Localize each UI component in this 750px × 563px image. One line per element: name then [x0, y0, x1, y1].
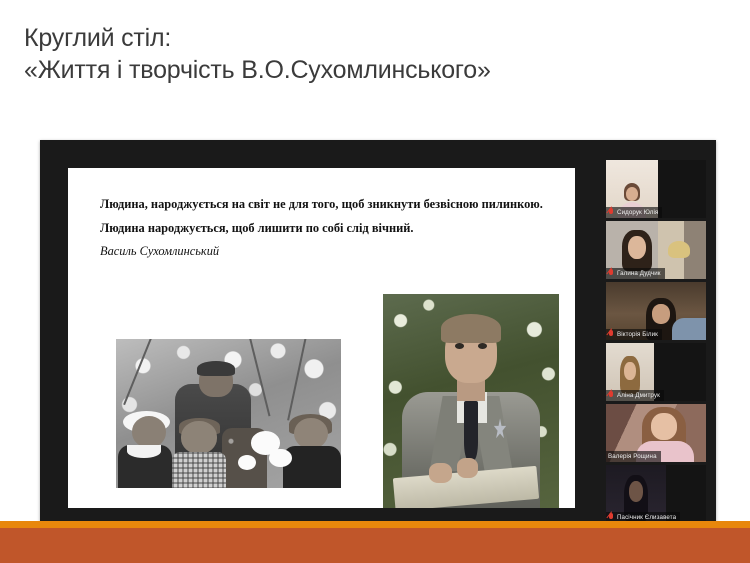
participant-name: Сидорук Юлія	[617, 208, 658, 217]
quote-line-2: Людина народжується, щоб лишити по собі …	[100, 220, 555, 237]
portrait-hand	[429, 463, 452, 483]
photo-child-left-head	[132, 416, 166, 447]
participant-name: Галина Дудчик	[617, 269, 661, 278]
portrait-hair	[441, 314, 501, 343]
photo-boy-body	[172, 452, 226, 488]
portrait-tie	[464, 401, 478, 461]
photo-blossom	[269, 449, 292, 467]
participant-namebar: Сидорук Юлія	[606, 207, 662, 218]
portrait-eye	[455, 343, 464, 349]
microphone-muted-icon	[608, 391, 614, 400]
participant-filmstrip[interactable]: Сидорук Юлія Галина Дудчик Вікторія Біли…	[606, 160, 706, 520]
microphone-muted-icon	[608, 330, 614, 339]
shared-screen-document: Людина, народжується на світ не для того…	[68, 168, 575, 508]
participant-namebar: Вікторія Білик	[606, 329, 662, 340]
photo-teacher-with-children	[116, 339, 341, 488]
portrait-hand	[457, 458, 478, 478]
participant-tile-alina-dmytruk[interactable]: Аліна Дмитрук	[606, 343, 706, 401]
photo-boy-head	[181, 421, 217, 454]
participant-tile-valeriia-roshchyna[interactable]: Валерія Рощина	[606, 404, 706, 462]
photo-blossom	[238, 455, 256, 470]
photo-sukhomlynsky-portrait	[383, 294, 559, 508]
participant-namebar: Валерія Рощина	[606, 451, 661, 462]
portrait-eye	[478, 343, 487, 349]
page-title: Круглий стіл: «Життя і творчість В.О.Сух…	[24, 22, 724, 86]
participant-tile-sidoruk-yuliia[interactable]: Сидорук Юлія	[606, 160, 706, 218]
quote-line-1: Людина, народжується на світ не для того…	[100, 196, 555, 213]
participant-namebar: Галина Дудчик	[606, 268, 665, 279]
photo-child-right-body	[283, 446, 342, 488]
microphone-muted-icon	[608, 269, 614, 278]
participant-name: Аліна Дмитрук	[617, 391, 660, 400]
accent-band-bright	[0, 521, 750, 528]
participant-tile-halyna-dudchyk[interactable]: Галина Дудчик	[606, 221, 706, 279]
microphone-muted-icon	[608, 208, 614, 217]
participant-name: Вікторія Білик	[617, 330, 658, 339]
participant-tile-viktoriia-bilyk[interactable]: Вікторія Білик	[606, 282, 706, 340]
accent-band-dark	[0, 528, 750, 563]
participant-namebar: Аліна Дмитрук	[606, 390, 664, 401]
quote-author: Василь Сухомлинський	[100, 243, 555, 260]
photo-child-right-head	[294, 418, 328, 449]
participant-tile-pasichnyk-yelyzaveta[interactable]: Пасічник Єлизавета	[606, 465, 706, 523]
meeting-window: Людина, народжується на світ не для того…	[40, 140, 716, 534]
participant-name: Валерія Рощина	[608, 452, 657, 461]
quote-block: Людина, народжується на світ не для того…	[100, 196, 555, 260]
photo-man-hair	[197, 361, 235, 376]
